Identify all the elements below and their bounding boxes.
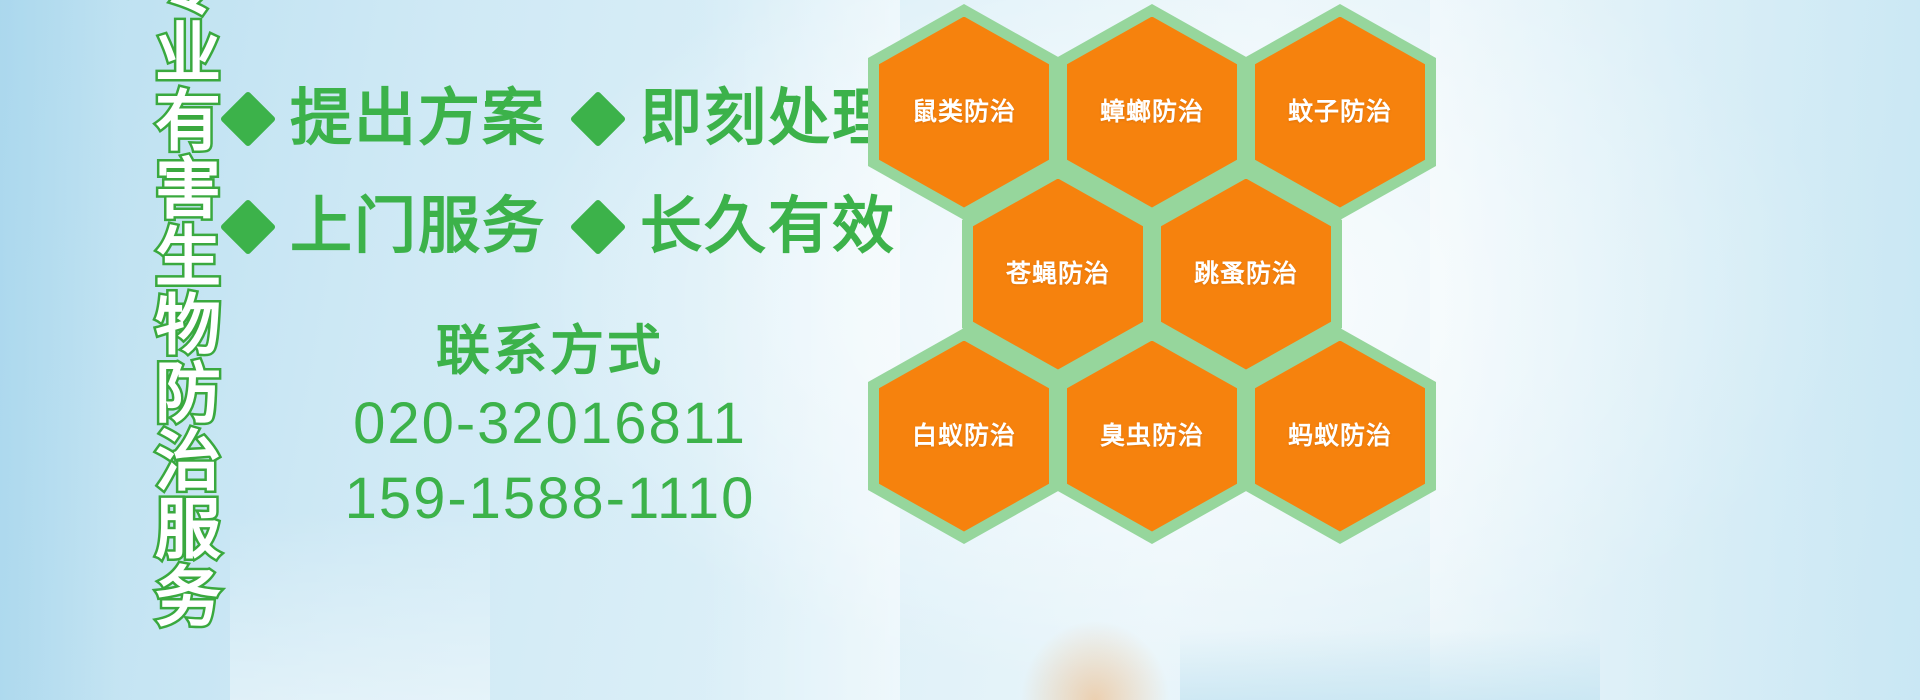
background-glow-orange bbox=[1020, 620, 1170, 700]
phone-landline[interactable]: 020-32016811 bbox=[250, 386, 850, 461]
service-label: 蚊子防治 bbox=[1288, 100, 1392, 125]
background-streak-bottom-left bbox=[230, 510, 490, 700]
feature-item-propose-plan: 提出方案 bbox=[228, 88, 546, 150]
feature-label: 上门服务 bbox=[290, 196, 546, 258]
service-label: 苍蝇防治 bbox=[1006, 262, 1110, 287]
hex-inner: 苍蝇防治 bbox=[973, 179, 1143, 370]
service-label: 蟑螂防治 bbox=[1100, 100, 1204, 125]
hex-inner: 白蚁防治 bbox=[879, 341, 1049, 532]
feature-row-1: 提出方案 即刻处理 bbox=[228, 88, 896, 150]
phone-mobile[interactable]: 159-1588-1110 bbox=[250, 461, 850, 536]
diamond-bullet-icon bbox=[220, 199, 277, 256]
background-streak-left bbox=[0, 0, 120, 700]
background-streak-bottom-right bbox=[1180, 630, 1600, 700]
diamond-bullet-icon bbox=[570, 199, 627, 256]
hex-inner: 蟑螂防治 bbox=[1067, 17, 1237, 208]
background-streak-right bbox=[1430, 0, 1920, 700]
hex-inner: 臭虫防治 bbox=[1067, 341, 1237, 532]
feature-item-door-to-door: 上门服务 bbox=[228, 196, 546, 258]
feature-row-2: 上门服务 长久有效 bbox=[228, 196, 896, 258]
hex-inner: 蚂蚁防治 bbox=[1255, 341, 1425, 532]
hex-inner: 鼠类防治 bbox=[879, 17, 1049, 208]
vertical-headline: 专业有害生物防治服务 bbox=[106, 10, 216, 570]
service-label: 白蚁防治 bbox=[912, 424, 1016, 449]
feature-label: 提出方案 bbox=[290, 88, 546, 150]
hex-inner: 蚊子防治 bbox=[1255, 17, 1425, 208]
promo-banner: 专业有害生物防治服务 提出方案 即刻处理 上门服务 长久有效 联系方式 020-… bbox=[0, 0, 1920, 700]
diamond-bullet-icon bbox=[220, 91, 277, 148]
contact-block: 联系方式 020-32016811 159-1588-1110 bbox=[250, 318, 850, 536]
service-hexagon-grid: 鼠类防治 蟑螂防治 蚊子防治 苍蝇防治 跳蚤防治 白蚁防治 bbox=[856, 0, 1456, 554]
contact-title: 联系方式 bbox=[250, 318, 850, 386]
service-label: 臭虫防治 bbox=[1100, 424, 1204, 449]
feature-item-long-lasting: 长久有效 bbox=[578, 196, 896, 258]
service-label: 鼠类防治 bbox=[912, 100, 1016, 125]
feature-item-instant-handling: 即刻处理 bbox=[578, 88, 896, 150]
diamond-bullet-icon bbox=[570, 91, 627, 148]
hex-inner: 跳蚤防治 bbox=[1161, 179, 1331, 370]
service-label: 跳蚤防治 bbox=[1194, 262, 1298, 287]
service-label: 蚂蚁防治 bbox=[1288, 424, 1392, 449]
